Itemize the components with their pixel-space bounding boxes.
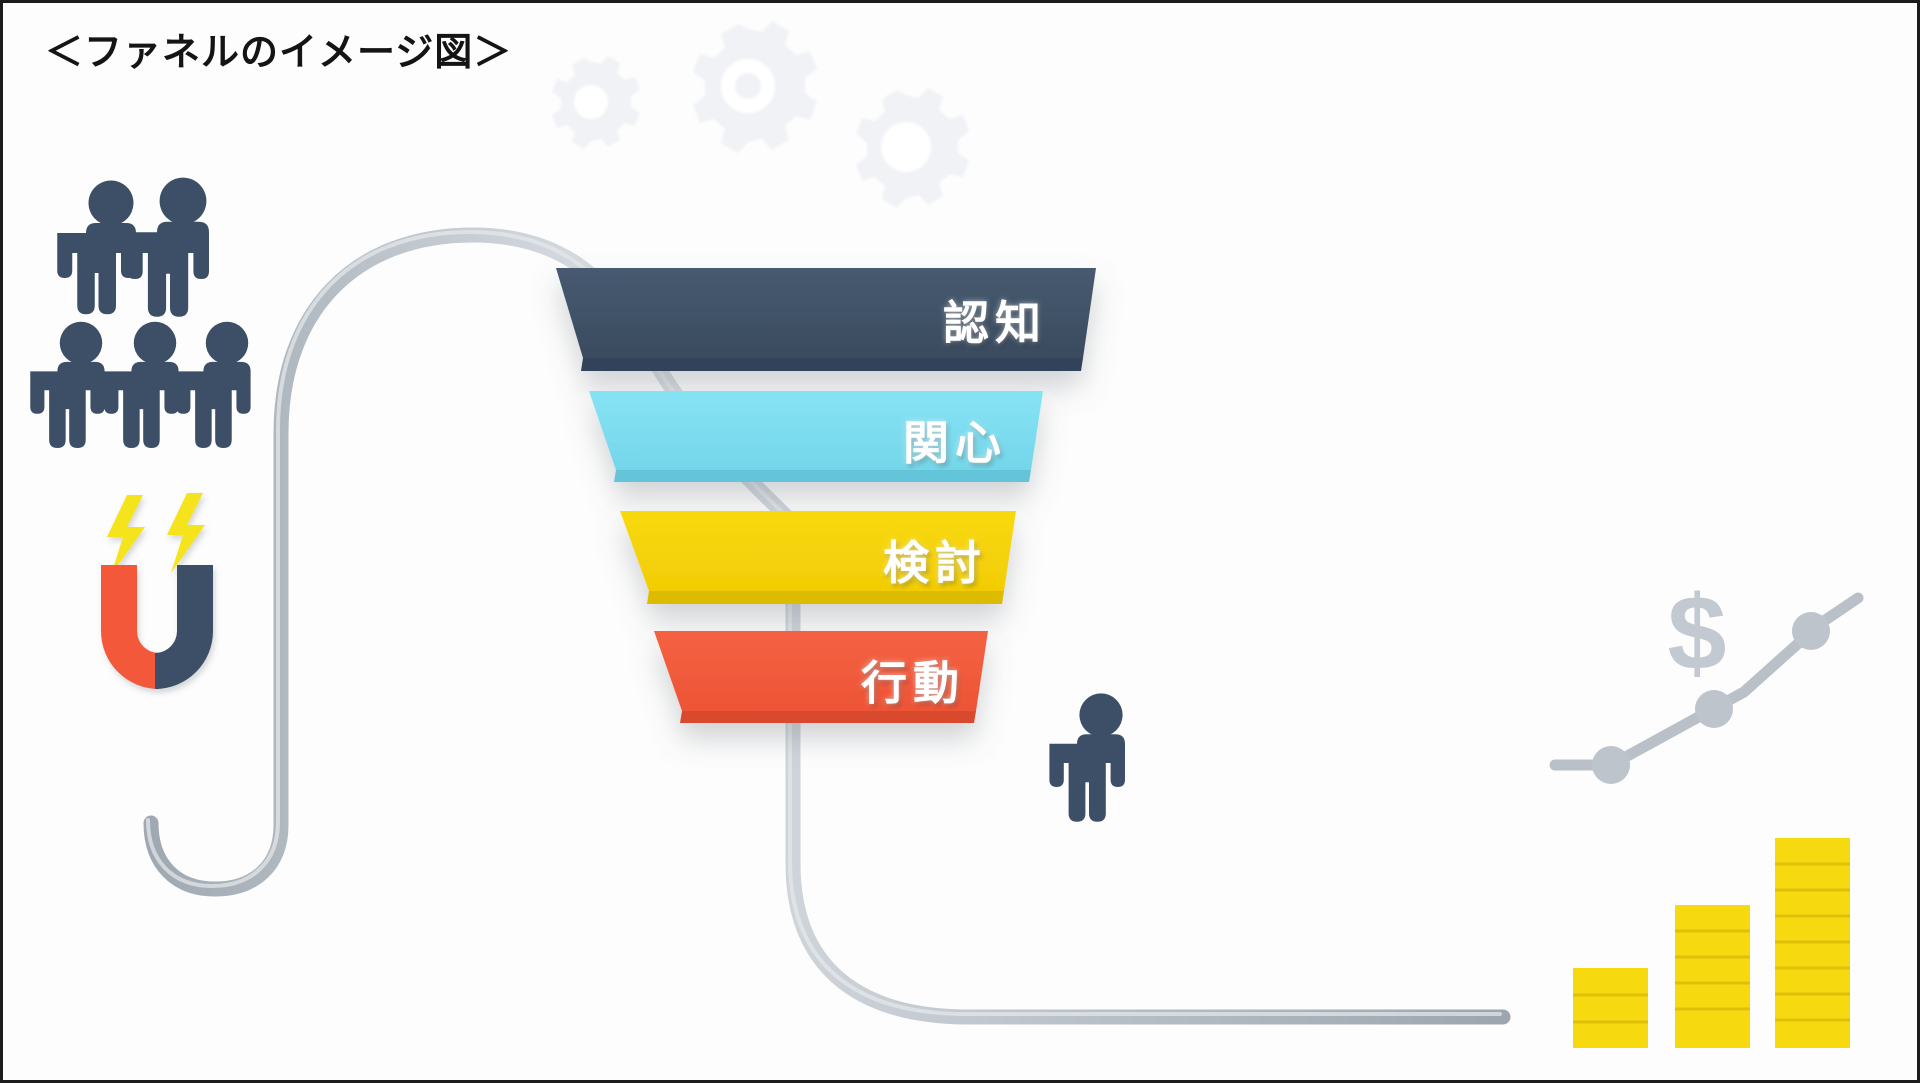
person-icon	[57, 181, 136, 315]
coin-stack-large	[1775, 838, 1850, 1048]
funnel-stage-consideration-face[interactable]	[620, 511, 1016, 591]
magnet-group	[101, 493, 213, 689]
dollar-sign-label: $	[1668, 574, 1727, 692]
person-icon	[104, 322, 178, 448]
dollar-sign-icon: $	[1668, 574, 1727, 692]
funnel-stage-action-edge	[680, 711, 976, 723]
gear-group	[552, 21, 969, 208]
gear-medium-icon	[856, 88, 969, 208]
coin-stack-small	[1573, 968, 1648, 1048]
person-icon	[127, 178, 209, 317]
diagram-svg: $	[3, 3, 1920, 1083]
person-icon	[176, 322, 250, 448]
gear-large-icon	[693, 21, 817, 153]
magnet-icon	[101, 563, 213, 689]
funnel-stage-awareness[interactable]	[556, 268, 1096, 371]
funnel-stage-awareness-face[interactable]	[556, 268, 1096, 358]
revenue-chart-group: $	[1555, 574, 1858, 1048]
funnel-stage-interest-edge	[614, 470, 1031, 482]
funnel-stage-consideration-edge	[647, 591, 1004, 604]
audience-people-group	[30, 178, 250, 448]
coin-stack-medium	[1675, 905, 1750, 1048]
gear-small-icon	[552, 56, 640, 149]
funnel-stage-consideration[interactable]	[620, 511, 1016, 604]
trend-marker	[1695, 690, 1733, 728]
slide-canvas: ＜ファネルのイメージ図＞	[0, 0, 1920, 1083]
trend-marker	[1592, 746, 1630, 784]
funnel-stage-action[interactable]	[654, 631, 988, 723]
funnel-stage-action-face[interactable]	[654, 631, 988, 711]
spark-icon	[107, 495, 145, 575]
person-icon	[30, 322, 104, 448]
funnel-stage-interest[interactable]	[589, 391, 1043, 482]
converted-person-icon	[1049, 693, 1125, 821]
spark-icon	[167, 493, 205, 573]
funnel-stage-awareness-edge	[581, 358, 1083, 371]
trend-marker	[1792, 612, 1830, 650]
funnel-stage-interest-face[interactable]	[589, 391, 1043, 470]
